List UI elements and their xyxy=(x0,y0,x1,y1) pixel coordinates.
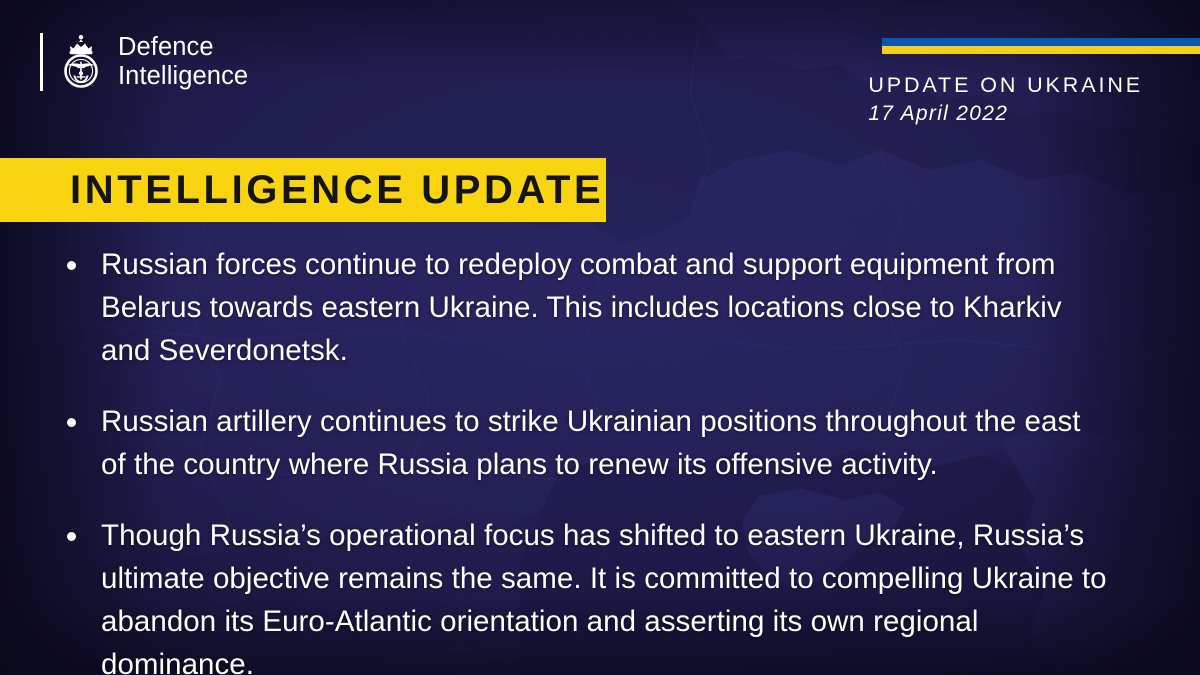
intelligence-update-banner: INTELLIGENCE UPDATE xyxy=(0,158,606,222)
update-title: UPDATE ON UKRAINE xyxy=(868,72,1143,98)
update-heading-block: UPDATE ON UKRAINE 17 April 2022 xyxy=(868,72,1143,128)
bullet-dot-icon xyxy=(67,261,76,270)
organisation-name: DefenceIntelligence xyxy=(118,33,248,91)
update-date: 17 April 2022 xyxy=(868,100,1143,128)
organisation-name-line2: Intelligence xyxy=(118,62,248,90)
defence-intelligence-branding: DefenceIntelligence xyxy=(40,30,248,94)
list-item: Russian artillery continues to strike Uk… xyxy=(58,400,1168,486)
bullet-dot-icon xyxy=(67,418,76,427)
brand-divider-rule xyxy=(40,33,43,91)
banner-label: INTELLIGENCE UPDATE xyxy=(70,170,604,210)
flag-stripe-blue xyxy=(882,38,1200,46)
bullet-text: Though Russia’s operational focus has sh… xyxy=(101,514,1111,675)
bullet-dot-icon xyxy=(67,532,76,541)
ukraine-flag-bar-icon xyxy=(882,38,1200,54)
flag-stripe-yellow xyxy=(882,46,1200,54)
list-item: Though Russia’s operational focus has sh… xyxy=(58,514,1168,675)
bullet-text: Russian forces continue to redeploy comb… xyxy=(101,243,1111,372)
royal-crown-crest-icon xyxy=(57,33,105,91)
list-item: Russian forces continue to redeploy comb… xyxy=(58,243,1168,372)
bullet-list: Russian forces continue to redeploy comb… xyxy=(58,243,1168,675)
intelligence-update-graphic: DefenceIntelligence UPDATE ON UKRAINE 17… xyxy=(0,0,1200,675)
organisation-name-line1: Defence xyxy=(118,33,214,61)
bullet-text: Russian artillery continues to strike Uk… xyxy=(101,400,1111,486)
